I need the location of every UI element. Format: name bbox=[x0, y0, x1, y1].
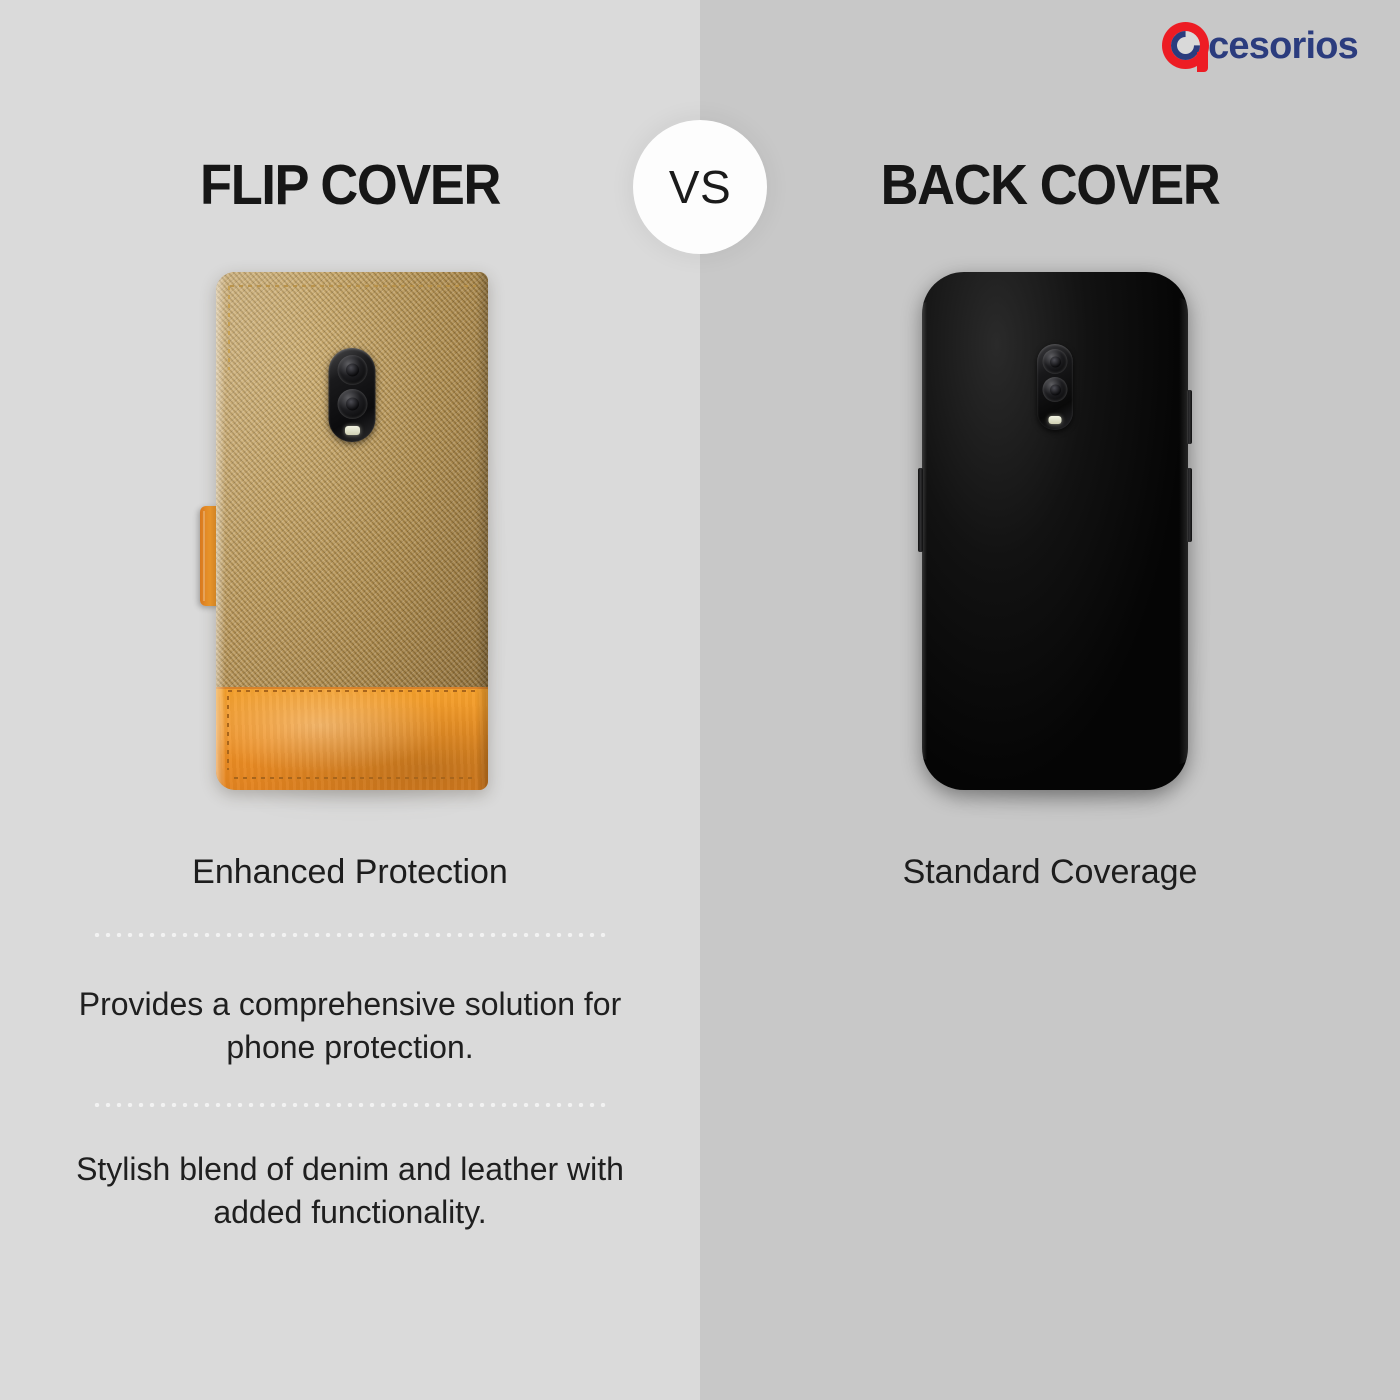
camera-lens-secondary-icon bbox=[1043, 377, 1068, 402]
flip-cover-feature-title: Enhanced Protection bbox=[0, 853, 700, 892]
feature-divider bbox=[92, 933, 608, 937]
camera-flash-icon bbox=[1049, 416, 1062, 424]
flip-cover-right-edge-shade bbox=[476, 272, 488, 790]
stitch-bottom-edge bbox=[234, 777, 474, 779]
brand-name-text: cesorios bbox=[1208, 27, 1358, 65]
versus-label: VS bbox=[669, 160, 731, 214]
flip-cover-product-stage bbox=[0, 250, 700, 820]
flip-cover-body bbox=[216, 272, 488, 790]
feature-divider bbox=[92, 1103, 608, 1107]
volume-button bbox=[918, 468, 923, 552]
logo-a-mark-icon bbox=[1162, 22, 1209, 69]
camera-module-icon bbox=[329, 348, 376, 442]
logo-a-tail bbox=[1197, 52, 1208, 72]
page-title-flip-cover: FLIP COVER bbox=[28, 152, 672, 218]
flip-cover-feature-1: Provides a comprehensive solution for ph… bbox=[60, 983, 640, 1069]
stitch-left-leather bbox=[227, 696, 229, 770]
flip-cover-feature-2: Stylish blend of denim and leather with … bbox=[60, 1148, 640, 1234]
camera-lens-secondary-icon bbox=[337, 389, 367, 419]
power-button bbox=[1187, 390, 1192, 444]
camera-flash-icon bbox=[345, 426, 360, 435]
back-cover-body bbox=[922, 272, 1188, 790]
camera-lens-primary-icon bbox=[337, 355, 367, 385]
versus-badge: VS bbox=[633, 120, 767, 254]
stitch-left-fabric bbox=[228, 286, 230, 370]
back-cover-product-stage bbox=[700, 250, 1400, 820]
back-cover-image bbox=[922, 272, 1188, 790]
stitch-top-edge bbox=[230, 285, 476, 287]
flip-cover-denim-fabric bbox=[216, 272, 488, 687]
flip-cover-leather-panel bbox=[216, 687, 488, 790]
flip-cover-spine-highlight bbox=[216, 272, 225, 790]
back-cover-feature-title: Standard Coverage bbox=[700, 853, 1400, 892]
camera-lens-primary-icon bbox=[1043, 349, 1068, 374]
alert-slider bbox=[1187, 468, 1192, 542]
page-title-back-cover: BACK COVER bbox=[728, 152, 1372, 218]
camera-module-icon bbox=[1037, 344, 1073, 430]
brand-logo[interactable]: cesorios bbox=[1162, 22, 1358, 69]
stitch-seam-line bbox=[228, 690, 478, 692]
flip-cover-image bbox=[216, 272, 488, 790]
